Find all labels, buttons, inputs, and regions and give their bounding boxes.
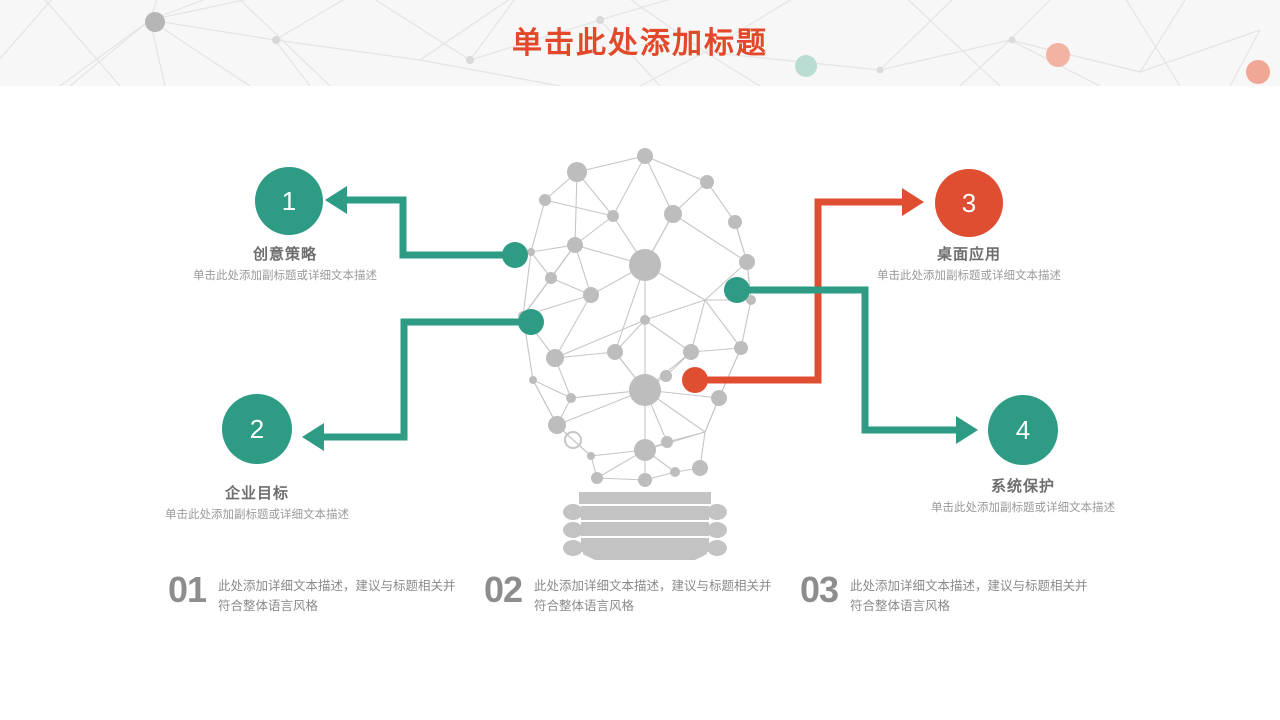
bottom-item-number: 03 [800, 572, 838, 608]
page-title: 单击此处添加标题 [0, 18, 1280, 62]
bulb-hub-node-2 [518, 309, 544, 335]
step-circle-4[interactable]: 4 [988, 395, 1058, 465]
bottom-description-row: 01 此处添加详细文本描述，建议与标题相关并符合整体语言风格 02 此处添加详细… [168, 572, 1148, 616]
step-text-4: 系统保护 单击此处添加副标题或详细文本描述 [908, 475, 1138, 517]
step-heading-1: 创意策略 [170, 243, 400, 264]
bulb-hub-node-3 [682, 367, 708, 393]
step-heading-3: 桌面应用 [854, 243, 1084, 264]
bottom-item-number: 01 [168, 572, 206, 608]
step-subtitle-2: 单击此处添加副标题或详细文本描述 [142, 507, 372, 524]
slide-canvas: 单击此处添加标题 [0, 0, 1280, 720]
bulb-base-icon [563, 492, 727, 560]
step-circle-1[interactable]: 1 [255, 167, 323, 235]
step-number-4: 4 [1016, 417, 1030, 443]
bottom-item-text: 此处添加详细文本描述，建议与标题相关并符合整体语言风格 [850, 572, 1090, 616]
bottom-item-text: 此处添加详细文本描述，建议与标题相关并符合整体语言风格 [218, 572, 458, 616]
lightbulb-network-icon [495, 140, 795, 560]
bottom-item: 02 此处添加详细文本描述，建议与标题相关并符合整体语言风格 [484, 572, 800, 616]
step-circle-3[interactable]: 3 [935, 169, 1003, 237]
bulb-hub-node-4 [724, 277, 750, 303]
step-subtitle-1: 单击此处添加副标题或详细文本描述 [170, 268, 400, 285]
step-number-1: 1 [282, 188, 296, 214]
step-circle-2[interactable]: 2 [222, 394, 292, 464]
header-node [877, 67, 884, 74]
bottom-item: 03 此处添加详细文本描述，建议与标题相关并符合整体语言风格 [800, 572, 1116, 616]
step-number-2: 2 [250, 416, 264, 442]
step-text-3: 桌面应用 单击此处添加副标题或详细文本描述 [854, 243, 1084, 285]
step-heading-2: 企业目标 [142, 482, 372, 503]
bottom-item-text: 此处添加详细文本描述，建议与标题相关并符合整体语言风格 [534, 572, 774, 616]
step-number-3: 3 [962, 190, 976, 216]
bulb-hub-node-1 [502, 242, 528, 268]
bottom-item: 01 此处添加详细文本描述，建议与标题相关并符合整体语言风格 [168, 572, 484, 616]
header-node-salmon [1246, 60, 1270, 84]
step-subtitle-3: 单击此处添加副标题或详细文本描述 [854, 268, 1084, 285]
step-text-2: 企业目标 单击此处添加副标题或详细文本描述 [142, 482, 372, 524]
step-text-1: 创意策略 单击此处添加副标题或详细文本描述 [170, 243, 400, 285]
step-subtitle-4: 单击此处添加副标题或详细文本描述 [908, 500, 1138, 517]
bottom-item-number: 02 [484, 572, 522, 608]
step-heading-4: 系统保护 [908, 475, 1138, 496]
